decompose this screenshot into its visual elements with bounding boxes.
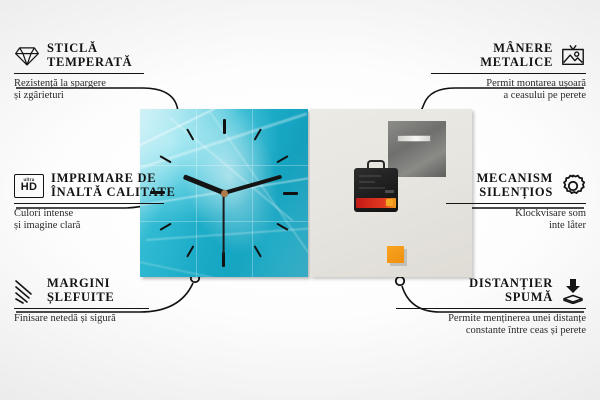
feature-subtitle: Klockvisare som inte låter: [381, 208, 586, 232]
clock-second-hand: [223, 193, 225, 257]
feature-head: MECANISM SILENȚIOS: [381, 172, 586, 199]
feature-title: MARGINI ȘLEFUITE: [47, 277, 114, 304]
feature-divider: [446, 203, 586, 204]
clock-tick: [224, 192, 298, 194]
feature-title: MECANISM SILENȚIOS: [477, 172, 553, 199]
feature-subtitle: Permite menținerea unei distanțe constan…: [381, 313, 586, 337]
feature-divider: [14, 308, 149, 309]
feature-subtitle: Culori intense și imagine clară: [14, 208, 219, 232]
diamond-icon: [14, 43, 40, 69]
feature-subtitle: Rezistență la spargere și zgârieturi: [14, 78, 219, 102]
feature-head: DISTANȚIER SPUMĂ: [381, 277, 586, 304]
clock-center-pivot: [221, 190, 228, 197]
feature-block-edges: MARGINI ȘLEFUITE Finisare netedă și sigu…: [14, 277, 219, 325]
feature-divider: [396, 308, 586, 309]
feature-title: MÂNERE METALICE: [480, 42, 553, 69]
feature-title: STICLĂ TEMPERATĂ: [47, 42, 132, 69]
ultra-hd-icon: ultra HD: [14, 174, 44, 198]
feature-divider: [14, 73, 144, 74]
feature-head: MARGINI ȘLEFUITE: [14, 277, 219, 304]
feature-title: DISTANȚIER SPUMĂ: [469, 277, 553, 304]
clock-tick: [223, 119, 225, 193]
feature-block-handles: MÂNERE METALICE Permit montarea ușoară a…: [381, 42, 586, 102]
gear-icon: [560, 173, 586, 199]
picture-hanger-icon: [560, 43, 586, 69]
feature-subtitle: Permit montarea ușoară a ceasului pe per…: [381, 78, 586, 102]
feature-block-glass: STICLĂ TEMPERATĂ Rezistență la spargere …: [14, 42, 219, 102]
feature-head: ultra HD IMPRIMARE DE ÎNALTĂ CALITATE: [14, 172, 219, 199]
hanging-loop: [367, 160, 385, 172]
polished-edge-icon: [14, 278, 40, 304]
foam-spacer-pad: [387, 246, 404, 263]
feature-head: STICLĂ TEMPERATĂ: [14, 42, 219, 69]
feature-block-mechanism: MECANISM SILENȚIOS Klockvisare som inte …: [381, 172, 586, 232]
feature-head: MÂNERE METALICE: [381, 42, 586, 69]
feature-subtitle: Finisare netedă și sigură: [14, 313, 219, 325]
hanger-slot: [397, 135, 431, 142]
feature-divider: [14, 203, 164, 204]
feature-block-spacer: DISTANȚIER SPUMĂ Permite menținerea unei…: [381, 277, 586, 337]
feature-block-print: ultra HD IMPRIMARE DE ÎNALTĂ CALITATE Cu…: [14, 172, 219, 232]
feature-title: IMPRIMARE DE ÎNALTĂ CALITATE: [51, 172, 176, 199]
mechanism-detail: [359, 181, 375, 183]
feature-divider: [431, 73, 586, 74]
mechanism-detail: [359, 175, 381, 177]
infographic-canvas: STICLĂ TEMPERATĂ Rezistență la spargere …: [0, 0, 600, 400]
foam-spacer-icon: [560, 278, 586, 304]
